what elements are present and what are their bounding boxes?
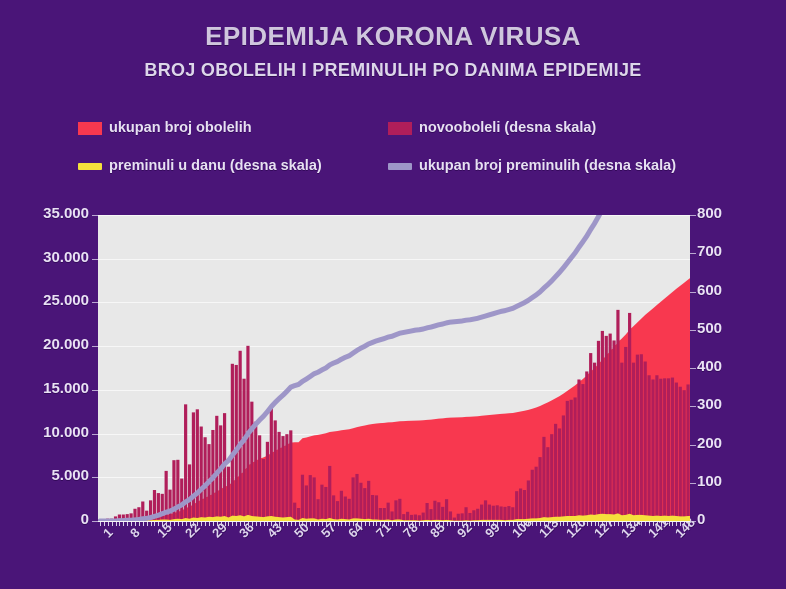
y-axis-left-tick: 0 [5,511,89,528]
bar-new-cases [344,497,347,521]
bar-new-cases [196,409,199,521]
bar-new-cases [468,513,471,521]
bar-new-cases [180,479,183,521]
bar-new-cases [426,503,429,521]
bar-new-cases [340,491,343,521]
bar-new-cases [297,508,300,521]
bar-new-cases [445,499,448,521]
bar-new-cases [348,499,351,521]
bar-new-cases [648,375,651,521]
bar-new-cases [332,495,335,521]
bar-new-cases [402,514,405,521]
bar-new-cases [546,447,549,521]
bar-new-cases [239,351,242,521]
bar-new-cases [285,434,288,521]
page-title: EPIDEMIJA KORONA VIRUSA [0,21,786,52]
bar-new-cases [336,501,339,521]
bar-new-cases [679,387,682,521]
bar-new-cases [492,506,495,521]
bar-new-cases [355,474,358,521]
bar-new-cases [188,464,191,521]
bar-new-cases [359,483,362,521]
legend-swatch-new-cases [388,122,412,135]
bar-new-cases [449,511,452,521]
bar-new-cases [550,434,553,521]
y-axis-left-tick: 20.000 [5,336,89,353]
y-axis-left-tick: 25.000 [5,292,89,309]
bar-new-cases [500,506,503,521]
bar-new-cases [605,336,608,521]
plot-area [98,215,690,521]
bar-new-cases [519,488,522,521]
bar-new-cases [593,363,596,521]
legend-label-total-cases: ukupan broj obolelih [109,120,252,136]
bar-new-cases [507,506,510,521]
bar-new-cases [316,499,319,521]
y-axis-right-tickmark [690,253,696,254]
y-axis-right-tick: 800 [697,205,767,222]
bar-new-cases [457,514,460,521]
bar-new-cases [379,508,382,521]
bar-new-cases [601,331,604,521]
bar-new-cases [515,491,518,521]
bar-new-cases [161,494,164,521]
bar-new-cases [535,467,538,521]
bar-new-cases [616,310,619,521]
bar-new-cases [538,457,541,521]
bar-new-cases [281,436,284,521]
legend-item-new-cases[interactable]: novooboleli (desna skala) [388,120,596,136]
page-subtitle: BROJ OBOLELIH I PREMINULIH PO DANIMA EPI… [0,60,786,81]
bar-new-cases [313,477,316,521]
legend-label-new-cases: novooboleli (desna skala) [419,120,596,136]
bar-new-cases [176,460,179,521]
bar-new-cases [640,354,643,521]
bar-new-cases [562,415,565,521]
bar-new-cases [558,428,561,521]
bar-new-cases [309,475,312,521]
bar-new-cases [570,400,573,521]
bar-new-cases [663,378,666,521]
y-axis-right-tickmark [690,483,696,484]
bar-new-cases [429,509,432,521]
y-axis-right-tick: 600 [697,282,767,299]
bar-new-cases [204,437,207,521]
bar-new-cases [527,480,530,521]
bar-new-cases [511,507,514,521]
bar-new-cases [686,384,689,521]
bar-new-cases [636,355,639,521]
bar-new-cases [200,427,203,521]
legend-swatch-total-deaths [388,163,412,170]
y-axis-right-tick: 700 [697,243,767,260]
bar-new-cases [472,510,475,521]
bar-new-cases [235,365,238,521]
bar-new-cases [367,481,370,521]
bar-new-cases [242,379,245,521]
bar-new-cases [289,430,292,521]
bar-new-cases [433,501,436,521]
bar-new-cases [461,513,464,521]
bar-new-cases [422,513,425,521]
bar-new-cases [227,467,230,521]
x-axis-tick: 1 [100,525,116,541]
y-axis-right-tick: 300 [697,396,767,413]
bar-new-cases [231,364,234,521]
bar-new-cases [390,511,393,521]
bar-new-cases [301,475,304,521]
legend-swatch-total-cases [78,122,102,135]
bar-new-cases [387,503,390,521]
bar-new-cases [531,470,534,521]
y-axis-right-tick: 200 [697,435,767,452]
bar-new-cases [683,390,686,521]
bar-new-cases [250,402,253,521]
x-axis-tick: 8 [127,525,143,541]
y-axis-right-tickmark [690,330,696,331]
bar-new-cases [464,507,467,521]
bar-new-cases [410,515,413,521]
bar-new-cases [363,488,366,521]
bar-new-cases [644,362,647,522]
y-axis-right-tick: 100 [697,473,767,490]
bar-new-cases [574,397,577,521]
y-axis-left-tick: 5.000 [5,467,89,484]
bar-new-cases [620,363,623,521]
bar-new-cases [262,459,265,521]
bar-new-cases [383,508,386,521]
bar-new-cases [624,347,627,521]
bar-new-cases [418,515,421,521]
bar-new-cases [566,401,569,521]
bar-new-cases [328,466,331,521]
bar-new-cases [324,487,327,521]
bar-new-cases [266,442,269,521]
bar-new-cases [480,505,483,521]
bar-new-cases [675,383,678,521]
y-axis-left-tick: 35.000 [5,205,89,222]
y-axis-right-tickmark [690,368,696,369]
bar-new-cases [542,437,545,521]
y-axis-left-tick: 15.000 [5,380,89,397]
bar-new-cases [352,477,355,521]
bar-new-cases [488,505,491,521]
bar-new-cases [496,505,499,521]
y-axis-right-tickmark [690,215,696,216]
bar-new-cases [581,384,584,521]
legend-swatch-daily-deaths [78,163,102,170]
y-axis-right-tick: 0 [697,511,767,528]
y-axis-right-tickmark [690,292,696,293]
bar-new-cases [320,485,323,521]
bar-new-cases [628,313,631,521]
bar-new-cases [441,507,444,521]
bar-new-cases [293,503,296,521]
bar-new-cases [375,495,378,521]
bar-new-cases [484,500,487,521]
chart-screenshot: EPIDEMIJA KORONA VIRUSA BROJ OBOLELIH I … [0,0,786,589]
bar-new-cases [453,518,456,521]
y-axis-right-tickmark [690,445,696,446]
bar-new-cases [612,340,615,521]
gridline-0 [98,521,690,522]
y-axis-right-tickmark [690,406,696,407]
y-axis-right-tick: 400 [697,358,767,375]
legend-item-daily-deaths[interactable]: preminuli u danu (desna skala) [78,158,322,174]
bar-new-cases [503,507,506,521]
bar-new-cases [192,412,195,521]
bar-new-cases [655,375,658,521]
bar-new-cases [651,379,654,521]
bar-new-cases [609,334,612,521]
chart-legend: ukupan broj obolelih novooboleli (desna … [0,112,786,182]
bar-new-cases [667,378,670,521]
bar-new-cases [371,495,374,521]
bar-new-cases [398,499,401,521]
bar-new-cases [394,500,397,521]
bar-new-cases [554,424,557,521]
bar-new-cases [254,422,257,521]
bar-new-cases [258,435,261,521]
legend-item-total-cases[interactable]: ukupan broj obolelih [78,120,252,136]
chart-canvas [98,215,690,521]
bar-new-cases [597,341,600,521]
bar-new-cases [589,353,592,521]
bar-new-cases [577,379,580,521]
bar-new-cases [406,512,409,521]
y-axis-left-tick: 10.000 [5,424,89,441]
bar-new-cases [632,363,635,521]
bar-new-cases [585,371,588,521]
bar-new-cases [659,379,662,521]
bar-new-cases [278,432,281,521]
legend-label-daily-deaths: preminuli u danu (desna skala) [109,158,322,174]
bar-new-cases [305,485,308,521]
bar-new-cases [168,490,171,521]
bar-new-cases [274,420,277,521]
bar-new-cases [671,378,674,521]
bar-new-cases [437,502,440,521]
legend-item-total-deaths[interactable]: ukupan broj preminulih (desna skala) [388,158,676,174]
bar-new-cases [476,509,479,521]
y-axis-right-tick: 500 [697,320,767,337]
legend-label-total-deaths: ukupan broj preminulih (desna skala) [419,158,676,174]
bar-new-cases [523,490,526,521]
bar-new-cases [270,408,273,521]
bar-new-cases [414,515,417,522]
y-axis-left-tick: 30.000 [5,249,89,266]
